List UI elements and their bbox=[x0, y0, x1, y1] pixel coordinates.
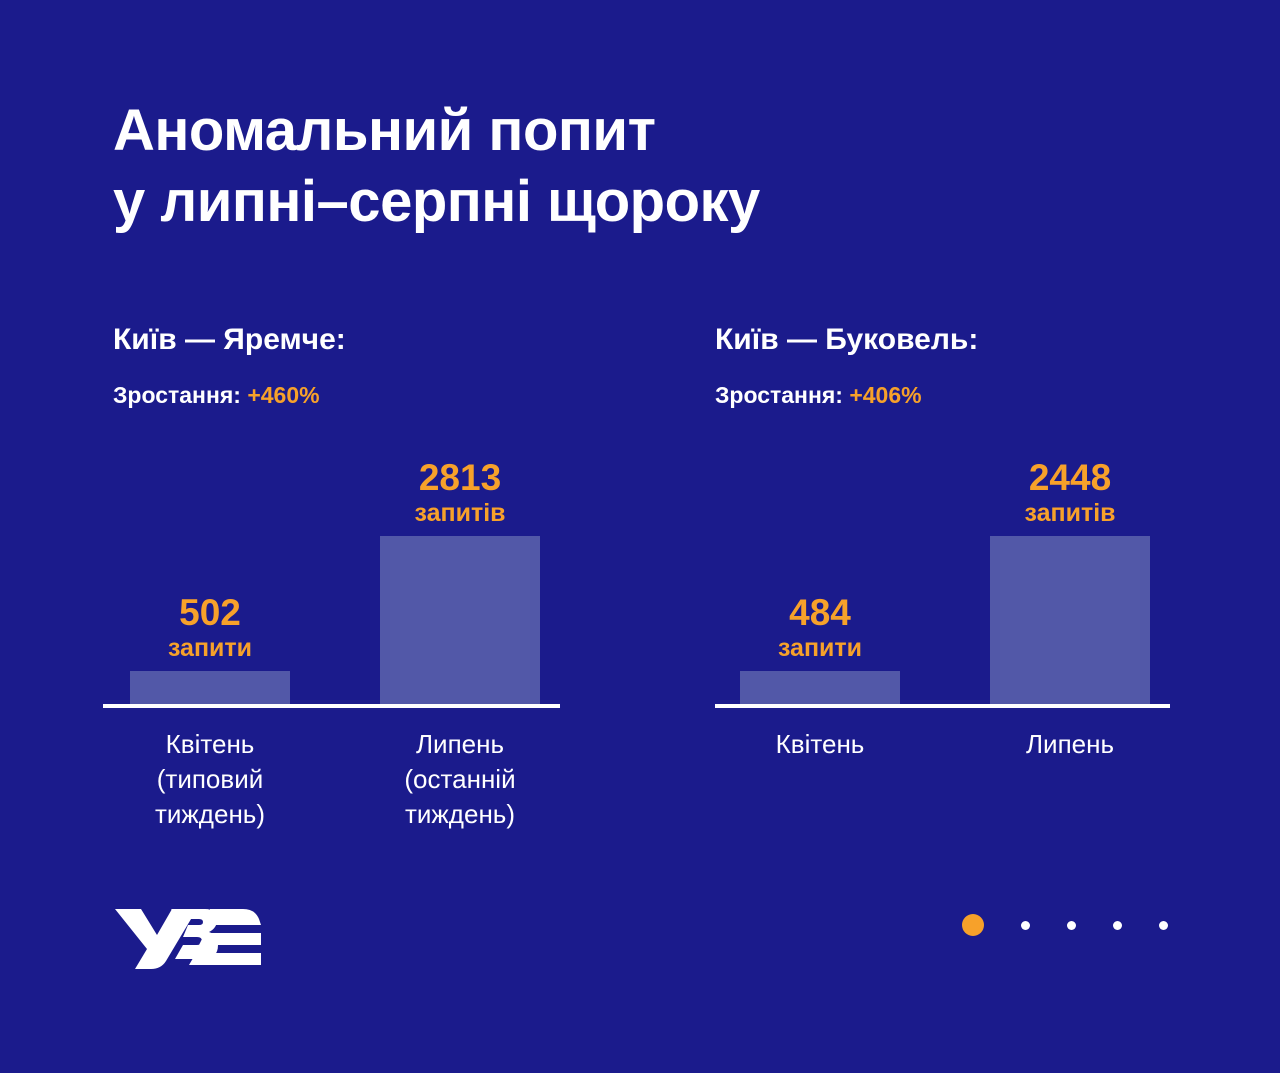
bar-yaremche-april bbox=[130, 671, 290, 704]
infographic-slide: Аномальний попит у липні–серпні щороку К… bbox=[0, 0, 1280, 1073]
pagination-dot-3[interactable] bbox=[1067, 921, 1076, 930]
bar-value-yaremche-april: 502 bbox=[168, 593, 252, 632]
category-label-line: Липень bbox=[965, 727, 1175, 762]
category-label-line: (типовий bbox=[105, 762, 315, 797]
category-label-line: тиждень) bbox=[355, 797, 565, 832]
pagination-dots[interactable] bbox=[962, 910, 1168, 940]
uz-logo bbox=[113, 903, 263, 971]
pagination-dot-4[interactable] bbox=[1113, 921, 1122, 930]
pagination-dot-2[interactable] bbox=[1021, 921, 1030, 930]
bar-unit-bukovel-july: запитів bbox=[1024, 500, 1115, 527]
route-title-yaremche: Київ — Яремче: bbox=[113, 322, 593, 358]
title-line-2: у липні–серпні щороку bbox=[113, 167, 1013, 238]
bar-group-bukovel-july: 2448 запитів bbox=[990, 536, 1150, 704]
bar-label-bukovel-july: 2448 запитів bbox=[1024, 458, 1115, 526]
bar-yaremche-july bbox=[380, 536, 540, 704]
title-line-1: Аномальний попит bbox=[113, 96, 1013, 167]
axis-baseline-bukovel bbox=[715, 704, 1170, 708]
category-label-line: Квітень bbox=[105, 727, 315, 762]
page-title: Аномальний попит у липні–серпні щороку bbox=[113, 96, 1013, 238]
plot-area-yaremche: 502 запити 2813 запитів bbox=[103, 387, 560, 708]
category-label-bukovel-april: Квітень bbox=[715, 727, 925, 762]
bar-unit-yaremche-april: запити bbox=[168, 635, 252, 662]
category-label-line: тиждень) bbox=[105, 797, 315, 832]
bar-group-yaremche-july: 2813 запитів bbox=[380, 536, 540, 704]
bar-value-bukovel-july: 2448 bbox=[1024, 458, 1115, 497]
category-label-bukovel-july: Липень bbox=[965, 727, 1175, 762]
category-label-line: Квітень bbox=[715, 727, 925, 762]
bar-value-bukovel-april: 484 bbox=[778, 593, 862, 632]
plot-area-bukovel: 484 запити 2448 запитів bbox=[715, 387, 1170, 708]
bar-bukovel-april bbox=[740, 671, 900, 704]
bar-unit-bukovel-april: запити bbox=[778, 635, 862, 662]
category-label-line: (останній bbox=[355, 762, 565, 797]
category-label-line: Липень bbox=[355, 727, 565, 762]
bar-chart-yaremche: 502 запити 2813 запитів bbox=[103, 387, 560, 712]
bar-chart-bukovel: 484 запити 2448 запитів bbox=[715, 387, 1170, 712]
pagination-dot-5[interactable] bbox=[1159, 921, 1168, 930]
route-title-bukovel: Київ — Буковель: bbox=[715, 322, 1195, 358]
axis-baseline-yaremche bbox=[103, 704, 560, 708]
bar-value-yaremche-july: 2813 bbox=[414, 458, 505, 497]
bar-label-yaremche-april: 502 запити bbox=[168, 593, 252, 661]
bar-group-yaremche-april: 502 запити bbox=[130, 671, 290, 704]
category-label-yaremche-april: Квітень (типовий тиждень) bbox=[105, 727, 315, 831]
bar-group-bukovel-april: 484 запити bbox=[740, 671, 900, 704]
bar-bukovel-july bbox=[990, 536, 1150, 704]
bar-unit-yaremche-july: запитів bbox=[414, 500, 505, 527]
category-label-yaremche-july: Липень (останній тиждень) bbox=[355, 727, 565, 831]
pagination-dot-1[interactable] bbox=[962, 914, 984, 936]
bar-label-bukovel-april: 484 запити bbox=[778, 593, 862, 661]
bar-label-yaremche-july: 2813 запитів bbox=[414, 458, 505, 526]
